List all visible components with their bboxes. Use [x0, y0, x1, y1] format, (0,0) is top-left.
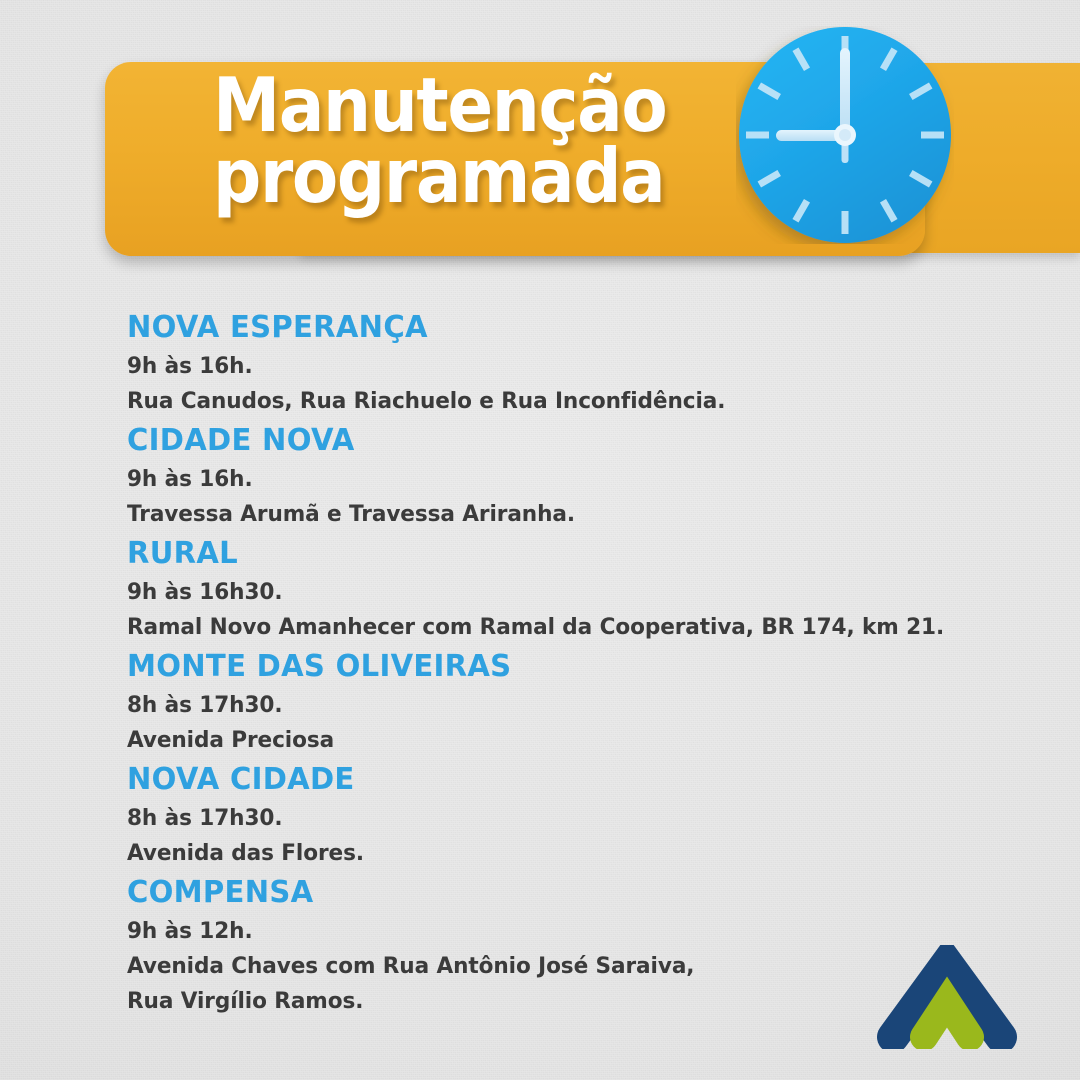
- clock-icon: [736, 26, 954, 244]
- schedule-time: 9h às 16h30.: [127, 575, 1020, 610]
- poster-canvas: Manutenção programada: [0, 0, 1080, 1080]
- street-list: Rua Canudos, Rua Riachuelo e Rua Inconfi…: [127, 384, 1020, 419]
- neighborhood-name: MONTE DAS OLIVEIRAS: [127, 645, 1029, 688]
- street-list: Avenida Preciosa: [127, 723, 1020, 758]
- street-list: Ramal Novo Amanhecer com Ramal da Cooper…: [127, 610, 1020, 645]
- list-item: MONTE DAS OLIVEIRAS 8h às 17h30. Avenida…: [127, 645, 1057, 758]
- neighborhood-name: NOVA CIDADE: [127, 758, 1029, 801]
- list-item: CIDADE NOVA 9h às 16h. Travessa Arumã e …: [127, 419, 1057, 532]
- chevron-logo-icon: [876, 945, 1018, 1049]
- header: Manutenção programada: [0, 0, 1080, 300]
- list-item: NOVA CIDADE 8h às 17h30. Avenida das Flo…: [127, 758, 1057, 871]
- street-list: Avenida das Flores.: [127, 836, 1020, 871]
- maintenance-list: NOVA ESPERANÇA 9h às 16h. Rua Canudos, R…: [127, 306, 1057, 1019]
- neighborhood-name: COMPENSA: [127, 871, 1029, 914]
- neighborhood-name: CIDADE NOVA: [127, 419, 1029, 462]
- page-title: Manutenção programada: [213, 70, 699, 213]
- schedule-time: 9h às 16h.: [127, 462, 1020, 497]
- street-list: Travessa Arumã e Travessa Ariranha.: [127, 497, 1020, 532]
- neighborhood-name: NOVA ESPERANÇA: [127, 306, 1029, 349]
- schedule-time: 9h às 12h.: [127, 914, 1020, 949]
- schedule-time: 9h às 16h.: [127, 349, 1020, 384]
- list-item: RURAL 9h às 16h30. Ramal Novo Amanhecer …: [127, 532, 1057, 645]
- list-item: NOVA ESPERANÇA 9h às 16h. Rua Canudos, R…: [127, 306, 1057, 419]
- schedule-time: 8h às 17h30.: [127, 801, 1020, 836]
- schedule-time: 8h às 17h30.: [127, 688, 1020, 723]
- neighborhood-name: RURAL: [127, 532, 1029, 575]
